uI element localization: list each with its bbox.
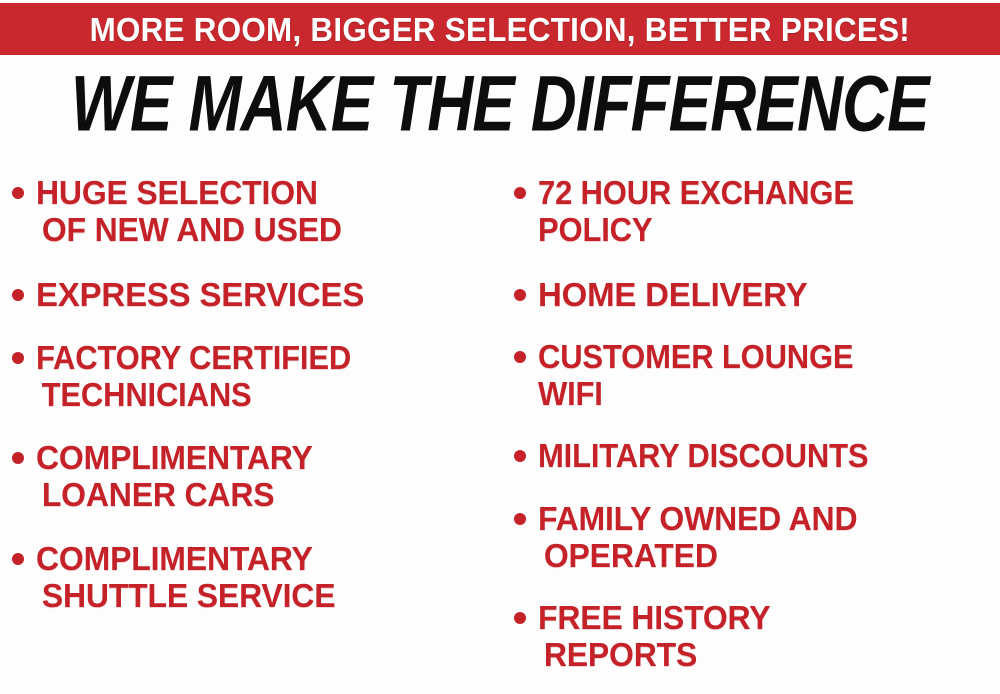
bullet-dot-icon xyxy=(514,513,526,525)
bullet-dot-icon xyxy=(12,289,24,301)
list-item-line-2: WIFI xyxy=(538,375,970,412)
list-item: FACTORY CERTIFIED TECHNICIANS xyxy=(12,339,496,413)
list-item: FREE HISTORY REPORTS xyxy=(514,599,998,673)
list-item: MILITARY DISCOUNTS xyxy=(514,437,998,474)
list-item-line-1: FAMILY OWNED AND xyxy=(538,500,984,537)
list-item-line-1: COMPLIMENTARY xyxy=(36,540,482,577)
list-item: CUSTOMER LOUNGE WIFI xyxy=(514,338,998,412)
list-item-line-2: OPERATED xyxy=(538,537,984,574)
list-item-text: COMPLIMENTARY SHUTTLE SERVICE xyxy=(36,540,482,614)
list-item-line-1: HUGE SELECTION xyxy=(36,174,482,211)
list-item-text: COMPLIMENTARY LOANER CARS xyxy=(36,439,482,513)
list-item-line-2: SHUTTLE SERVICE xyxy=(36,577,482,614)
list-item: HOME DELIVERY xyxy=(514,276,998,313)
top-banner-text: MORE ROOM, BIGGER SELECTION, BETTER PRIC… xyxy=(90,13,910,46)
bullet-dot-icon xyxy=(514,187,526,199)
benefits-column-right: 72 HOUR EXCHANGE POLICY HOME DELIVERY CU… xyxy=(500,160,1000,694)
bullet-dot-icon xyxy=(514,351,526,363)
bullet-dot-icon xyxy=(514,289,526,301)
bullet-dot-icon xyxy=(12,452,24,464)
list-item: 72 HOUR EXCHANGE POLICY xyxy=(514,174,998,248)
promotional-poster: MORE ROOM, BIGGER SELECTION, BETTER PRIC… xyxy=(0,0,1000,694)
list-item-line-1: CUSTOMER LOUNGE xyxy=(538,338,970,375)
top-banner: MORE ROOM, BIGGER SELECTION, BETTER PRIC… xyxy=(0,3,1000,55)
list-item-line-1: HOME DELIVERY xyxy=(538,276,998,313)
list-item: EXPRESS SERVICES xyxy=(12,276,496,313)
list-item-line-2: OF NEW AND USED xyxy=(36,211,482,248)
list-item-text: FACTORY CERTIFIED TECHNICIANS xyxy=(36,339,468,413)
bullet-dot-icon xyxy=(12,553,24,565)
list-item-text: 72 HOUR EXCHANGE POLICY xyxy=(538,174,970,248)
list-item-line-1: MILITARY DISCOUNTS xyxy=(538,437,970,474)
list-item-line-1: FREE HISTORY xyxy=(538,599,984,636)
list-item-text: CUSTOMER LOUNGE WIFI xyxy=(538,338,970,412)
page-title: WE MAKE THE DIFFERENCE xyxy=(71,65,929,143)
list-item: FAMILY OWNED AND OPERATED xyxy=(514,500,998,574)
headline-container: WE MAKE THE DIFFERENCE xyxy=(0,66,1000,142)
benefits-columns: HUGE SELECTION OF NEW AND USED EXPRESS S… xyxy=(0,160,1000,694)
list-item-line-1: COMPLIMENTARY xyxy=(36,439,482,476)
list-item: COMPLIMENTARY SHUTTLE SERVICE xyxy=(12,540,496,614)
bullet-dot-icon xyxy=(12,352,24,364)
list-item-text: HOME DELIVERY xyxy=(538,276,998,313)
list-item-line-1: 72 HOUR EXCHANGE xyxy=(538,174,970,211)
list-item-line-2: REPORTS xyxy=(538,636,984,673)
bullet-dot-icon xyxy=(514,612,526,624)
list-item-text: EXPRESS SERVICES xyxy=(36,276,496,313)
list-item-line-2: LOANER CARS xyxy=(36,476,482,513)
list-item-text: HUGE SELECTION OF NEW AND USED xyxy=(36,174,482,248)
bullet-dot-icon xyxy=(12,187,24,199)
list-item-line-1: FACTORY CERTIFIED xyxy=(36,339,468,376)
benefits-column-left: HUGE SELECTION OF NEW AND USED EXPRESS S… xyxy=(0,160,500,694)
list-item: COMPLIMENTARY LOANER CARS xyxy=(12,439,496,513)
bullet-dot-icon xyxy=(514,450,526,462)
list-item-line-2: POLICY xyxy=(538,211,970,248)
list-item-text: FAMILY OWNED AND OPERATED xyxy=(538,500,984,574)
list-item: HUGE SELECTION OF NEW AND USED xyxy=(12,174,496,248)
list-item-line-2: TECHNICIANS xyxy=(36,376,468,413)
list-item-text: MILITARY DISCOUNTS xyxy=(538,437,970,474)
list-item-line-1: EXPRESS SERVICES xyxy=(36,276,496,313)
list-item-text: FREE HISTORY REPORTS xyxy=(538,599,984,673)
